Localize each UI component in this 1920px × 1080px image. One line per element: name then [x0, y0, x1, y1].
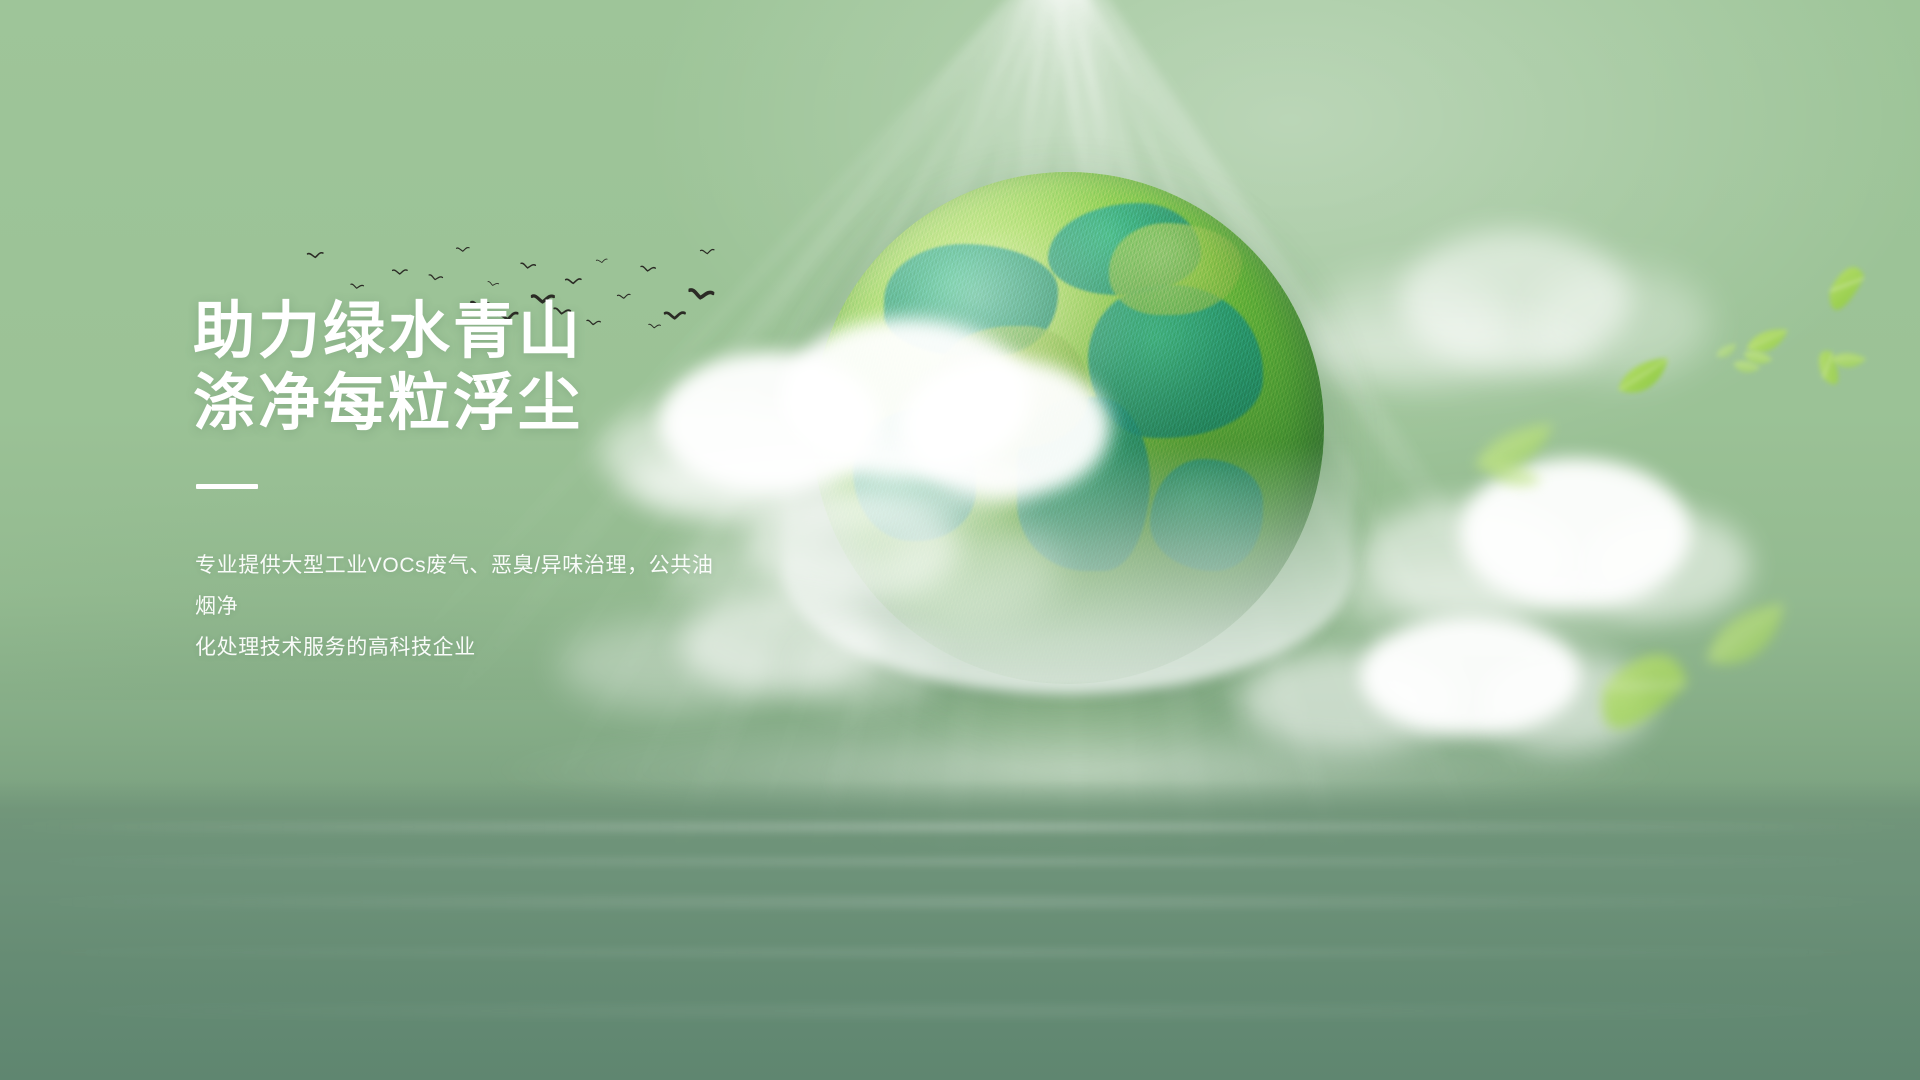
- page-title: 助力绿水青山 涤净每粒浮尘: [193, 296, 893, 440]
- bird-icon: [486, 280, 499, 289]
- bird-icon: [565, 276, 583, 288]
- bird-icon: [595, 257, 608, 266]
- subtitle-line-1: 专业提供大型工业VOCs废气、恶臭/异味治理，公共油烟净: [195, 546, 735, 628]
- bird-icon: [456, 245, 471, 255]
- bird-icon: [427, 273, 443, 284]
- subtitle-line-2: 化处理技术服务的高科技企业: [195, 628, 735, 669]
- subtitle: 专业提供大型工业VOCs废气、恶臭/异味治理，公共油烟净 化处理技术服务的高科技…: [195, 546, 735, 669]
- leaf-icon: [1611, 353, 1679, 405]
- bird-icon: [700, 247, 716, 258]
- bird-icon: [306, 250, 324, 262]
- bird-icon: [392, 268, 408, 279]
- hero-copy-block: 助力绿水青山 涤净每粒浮尘 专业提供大型工业VOCs废气、恶臭/异味治理，公共油…: [193, 296, 893, 669]
- cloud-right-lower: [1330, 440, 1750, 650]
- title-divider: [196, 484, 258, 489]
- hero-banner: 助力绿水青山 涤净每粒浮尘 专业提供大型工业VOCs废气、恶臭/异味治理，公共油…: [0, 0, 1920, 1080]
- headline-line-1: 助力绿水青山: [193, 296, 893, 368]
- headline-line-2: 涤净每粒浮尘: [193, 368, 893, 440]
- bird-icon: [350, 283, 365, 293]
- water-surface: [0, 780, 1920, 1080]
- leaf-icon: [1820, 259, 1868, 327]
- bird-icon: [520, 261, 537, 272]
- bird-icon: [640, 264, 657, 275]
- leaf-icon: [1693, 594, 1805, 685]
